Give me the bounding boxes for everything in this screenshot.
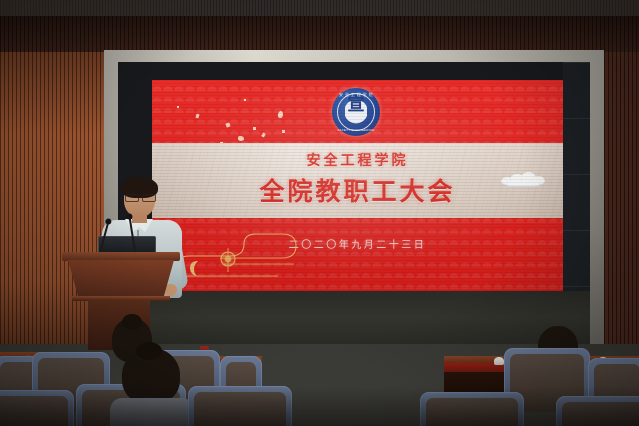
ceiling-shading [0,0,639,17]
attendee-bun [136,342,162,360]
lectern-top [62,252,180,261]
screen-scanlines [152,80,563,291]
attendee-ponytail [122,314,142,330]
conference-hall-photo: 安 全 工 程 学 院 宣 SAFETY ENGINEERING 安全工程学院 … [0,0,639,426]
led-screen: 安 全 工 程 学 院 宣 SAFETY ENGINEERING 安全工程学院 … [152,80,563,291]
right-wood-panel-wall [600,52,639,382]
presenter-glasses [125,194,154,200]
foreground-shadow [0,386,639,426]
lectern-front-panel [68,260,174,298]
nameplate-holder [494,357,504,365]
